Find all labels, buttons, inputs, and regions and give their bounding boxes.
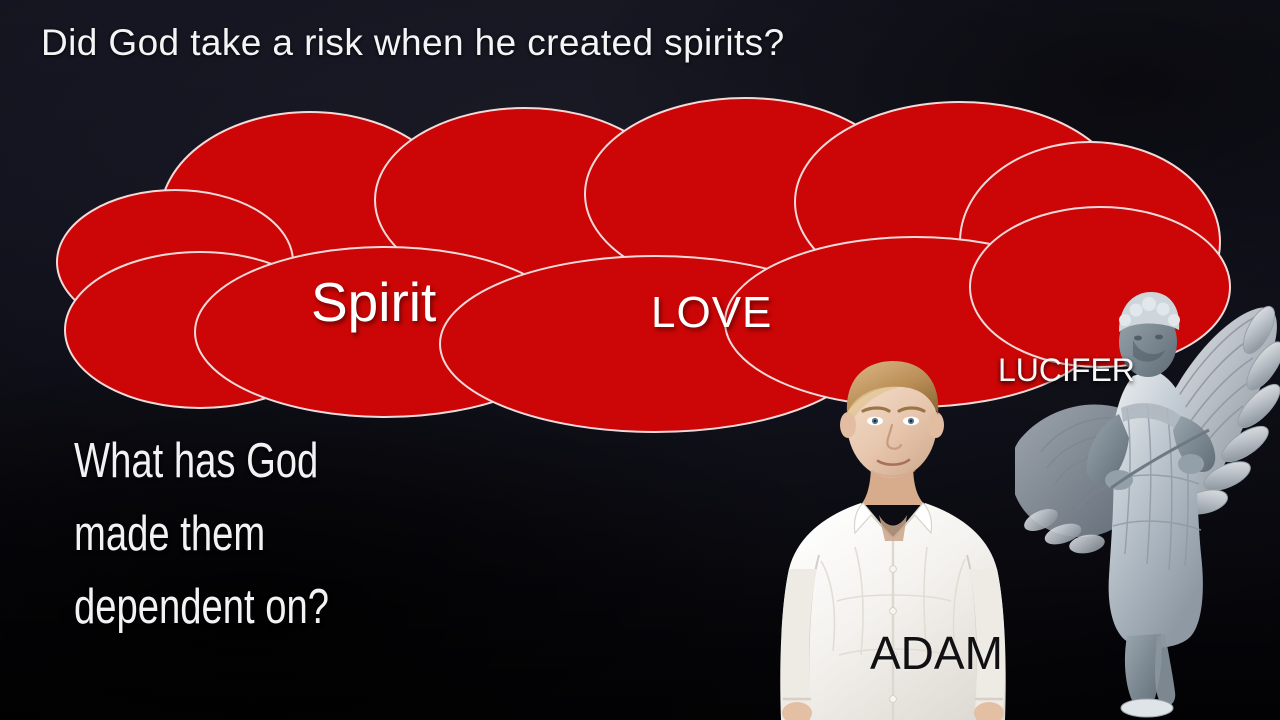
question-line-2: made them — [74, 498, 329, 571]
man-head — [840, 361, 944, 478]
question-line-1: What has God — [74, 425, 329, 498]
angel-head — [1119, 292, 1180, 377]
question-line-3: dependent on? — [74, 571, 329, 644]
presentation-slide: Did God take a risk when he created spir… — [0, 0, 1280, 720]
page-title-text: Did God take a risk when he created spir… — [41, 22, 785, 63]
man-shirt — [780, 503, 1005, 720]
angel-legs — [1121, 634, 1175, 717]
man-photo — [775, 355, 1070, 720]
question-text-block: What has God made them dependent on? — [74, 425, 401, 644]
page-title: Did God take a risk when he created spir… — [41, 21, 785, 65]
figure-adam — [775, 355, 1070, 720]
